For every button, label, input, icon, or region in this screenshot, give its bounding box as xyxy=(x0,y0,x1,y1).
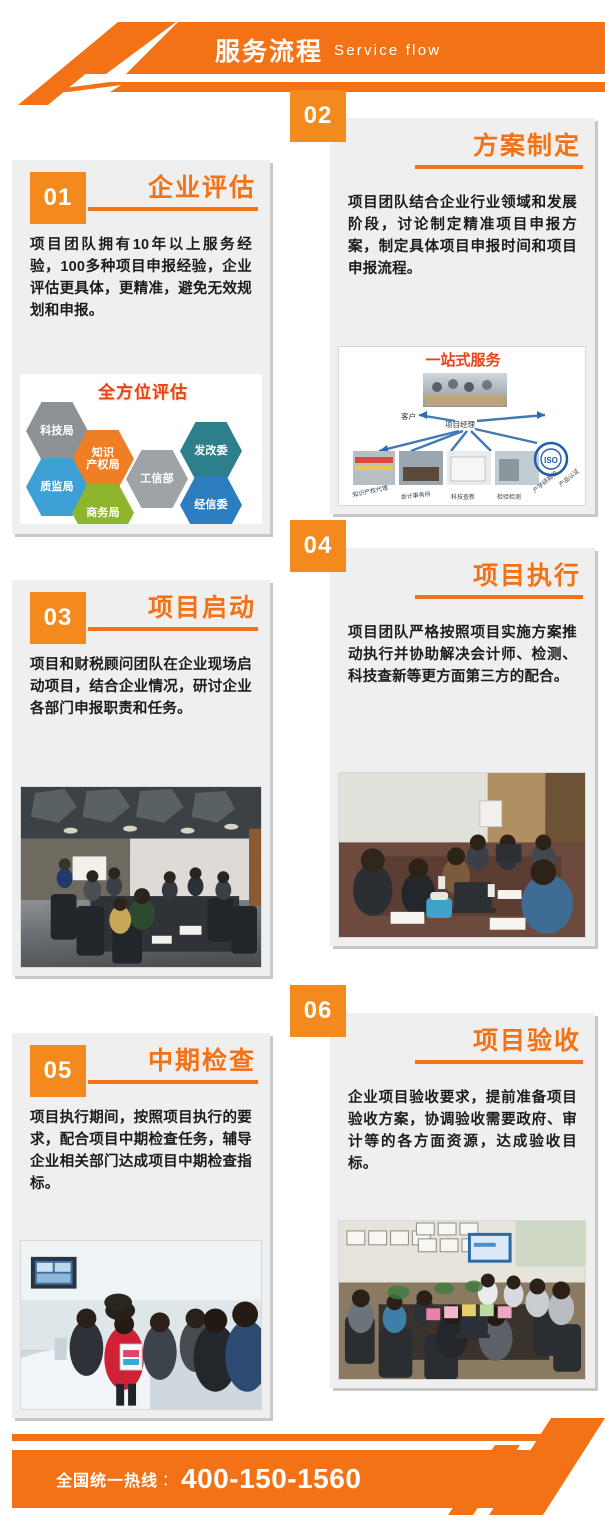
card-title: 中期检查 xyxy=(148,1041,256,1077)
step-number-badge: 01 xyxy=(30,172,86,224)
title-underline xyxy=(88,1080,258,1084)
step-card-03[interactable]: 03 项目启动 项目和财税顾问团队在企业现场启动项目，结合企业情况，研讨企业各部… xyxy=(12,580,270,976)
card-title: 企业评估 xyxy=(148,168,256,204)
card-header: 03 项目启动 xyxy=(12,580,270,652)
header-title-group: 服务流程 Service flow xyxy=(215,30,575,70)
service-flow-svg: 一站式服务 客户 项目经理 xyxy=(339,347,586,506)
photo-detail xyxy=(21,1241,261,1410)
card-body-text: 项目团队结合企业行业领域和发展阶段，讨论制定精准项目申报方案，制定具体项目申报时… xyxy=(330,190,595,280)
branch-inspection: 检验检测 xyxy=(497,493,521,501)
card-header: 06 项目验收 xyxy=(330,1013,595,1085)
step-number-badge: 06 xyxy=(290,985,346,1037)
step-card-05[interactable]: 05 中期检查 项目执行期间，按照项目执行的要求，配合项目中期检查任务，辅导企业… xyxy=(12,1033,270,1418)
card-header: 02 方案制定 xyxy=(330,118,595,190)
card-body-text: 企业项目验收要求，提前准备项目验收方案，协调验收需要政府、审计等的各方面资源，达… xyxy=(330,1085,595,1175)
step-card-06[interactable]: 06 项目验收 企业项目验收要求，提前准备项目验收方案，协调验收需要政府、审计等… xyxy=(330,1013,595,1388)
title-underline xyxy=(415,595,583,599)
hotline-colon: ： xyxy=(162,1469,177,1490)
acceptance-meeting-photo xyxy=(338,1220,586,1380)
page-title: 服务流程 xyxy=(215,32,323,68)
hex-diagram-title: 全方位评估 xyxy=(98,378,188,403)
card-header: 05 中期检查 xyxy=(12,1033,270,1105)
title-underline xyxy=(415,1060,583,1064)
hotline-label: 全国统一热线 xyxy=(56,1467,158,1491)
footer-accent-stripe xyxy=(12,1434,557,1441)
hotline-number[interactable]: 400-150-1560 xyxy=(181,1463,361,1495)
step-number-badge: 05 xyxy=(30,1045,86,1097)
card-body-text: 项目和财税顾问团队在企业现场启动项目，结合企业情况，研讨企业各部门申报职责和任务… xyxy=(12,652,270,720)
header-accent-stripe xyxy=(110,82,605,92)
card-title: 项目执行 xyxy=(473,556,581,592)
card-body-text: 项目团队拥有10年以上服务经验，100多种项目申报经验，企业评估更具体，更精准，… xyxy=(12,232,270,322)
card-header: 01 企业评估 xyxy=(12,160,270,232)
card-body-text: 项目团队严格按照项目实施方案推动执行并协助解决会计师、检测、科技查新等更方面第三… xyxy=(330,620,595,688)
step-card-04[interactable]: 04 项目执行 项目团队严格按照项目实施方案推动执行并协助解决会计师、检测、科技… xyxy=(330,548,595,946)
hex-node-fgw: 发改委 xyxy=(180,422,242,480)
photo-detail xyxy=(21,787,261,967)
card-title: 项目启动 xyxy=(148,588,256,624)
hex-node-gxb: 工信部 xyxy=(126,450,188,508)
step-card-01[interactable]: 01 企业评估 项目团队拥有10年以上服务经验，100多种项目申报经验，企业评估… xyxy=(12,160,270,534)
iso-badge: ISO xyxy=(544,456,558,465)
team-working-photo xyxy=(338,772,586,938)
one-stop-service-diagram: 一站式服务 客户 项目经理 xyxy=(338,346,586,506)
branch-research: 科技查新 xyxy=(451,493,475,501)
card-title: 方案制定 xyxy=(473,126,581,162)
step-number-badge: 04 xyxy=(290,520,346,572)
title-underline xyxy=(88,207,258,211)
photo-detail xyxy=(339,1221,585,1380)
step-number-badge: 02 xyxy=(290,90,346,142)
hotline-group: 全国统一热线 ： 400-150-1560 xyxy=(56,1458,361,1500)
node-customer: 客户 xyxy=(401,411,416,421)
service-flow-infographic: 服务流程 Service flow 01 企业评估 项目团队拥有10年以上服务经… xyxy=(0,0,605,1538)
showroom-visit-photo xyxy=(20,1240,262,1410)
title-underline xyxy=(88,627,258,631)
service-diagram-title: 一站式服务 xyxy=(425,351,501,369)
step-card-02[interactable]: 02 方案制定 项目团队结合企业行业领域和发展阶段，讨论制定精准项目申报方案，制… xyxy=(330,118,595,514)
hex-node-jxw: 经信委 xyxy=(180,476,242,524)
card-title: 项目验收 xyxy=(473,1021,581,1057)
hex-diagram: 全方位评估 科技局 知识产权局 发改委 质监局 工信部 商务局 经信委 xyxy=(20,374,262,524)
title-underline xyxy=(415,165,583,169)
step-number-badge: 03 xyxy=(30,592,86,644)
photo-detail xyxy=(339,773,585,938)
page-subtitle: Service flow xyxy=(334,42,441,59)
page-footer: 全国统一热线 ： 400-150-1560 xyxy=(0,1418,605,1538)
meeting-room-photo xyxy=(20,786,262,968)
card-body-text: 项目执行期间，按照项目执行的要求，配合项目中期检查任务，辅导企业相关部门达成项目… xyxy=(12,1105,270,1195)
card-header: 04 项目执行 xyxy=(330,548,595,620)
